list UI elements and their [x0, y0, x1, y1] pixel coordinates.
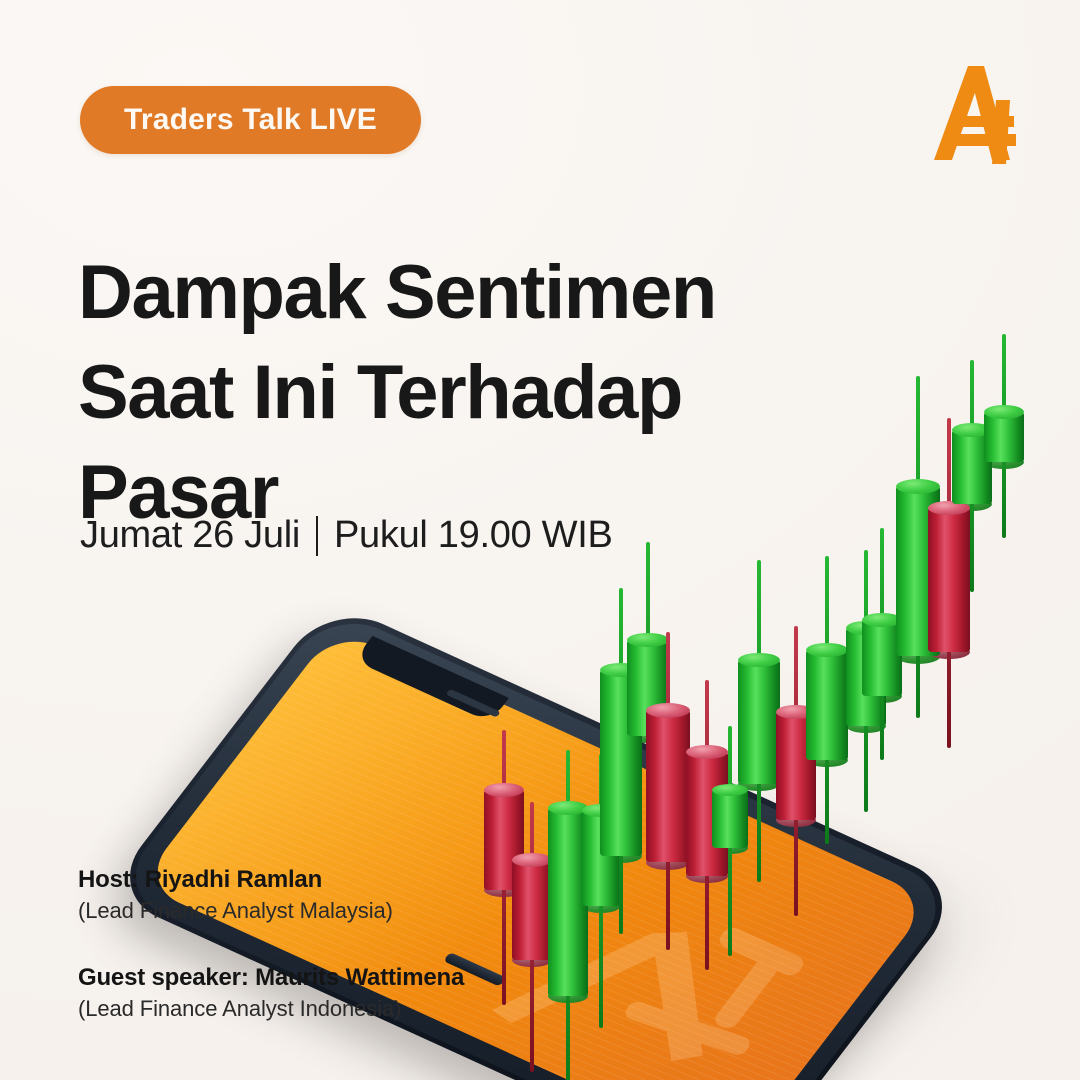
candle-wick: [880, 528, 884, 760]
candle-top-cap: [712, 784, 748, 796]
candle-body: [952, 430, 992, 504]
brand-logo: [922, 60, 1032, 168]
candle-body: [484, 790, 524, 890]
candle-bottom-cap: [484, 883, 524, 897]
candle-top-cap: [686, 745, 728, 759]
candle-wick: [666, 632, 670, 950]
candlestick-down-16: [928, 418, 970, 748]
candle-body: [984, 412, 1024, 462]
candlestick-down-8: [686, 680, 728, 970]
candlestick-up-17: [952, 360, 992, 592]
candle-bottom-cap: [600, 849, 642, 863]
schedule-time: Pukul 19.00 WIB: [334, 514, 613, 557]
page-title: Dampak Sentimen Saat Ini Terhadap Pasar: [78, 243, 778, 543]
candle-top-cap: [582, 804, 620, 817]
candle-top-cap: [984, 405, 1024, 419]
candle-wick: [728, 726, 732, 956]
candle-body: [776, 712, 816, 820]
candle-body: [928, 508, 970, 652]
candle-wick: [599, 754, 603, 1028]
candle-bottom-cap: [862, 689, 902, 703]
candle-body: [712, 790, 748, 848]
candle-body: [646, 710, 690, 862]
screen-arrow-graphic: [480, 846, 842, 1080]
candle-body: [846, 628, 886, 726]
candle-bottom-cap: [846, 719, 886, 733]
candlestick-down-11: [776, 626, 816, 916]
candle-wick: [502, 730, 506, 1005]
candle-body: [600, 670, 642, 856]
candle-body: [627, 640, 669, 736]
candle-top-cap: [806, 643, 848, 657]
candlestick-up-6: [627, 542, 669, 818]
candlestick-up-5: [600, 588, 642, 934]
candle-bottom-cap: [952, 497, 992, 511]
candle-bottom-cap: [512, 953, 552, 967]
candlestick-down-7: [646, 632, 690, 950]
host-title: (Lead Finance Analyst Malaysia): [78, 898, 464, 924]
candlestick-up-14: [862, 528, 902, 760]
candle-bottom-cap: [686, 869, 728, 883]
guest-speaker-name: Guest speaker: Maurits Wattimena: [78, 964, 464, 992]
candle-top-cap: [512, 853, 552, 867]
phone-speaker: [445, 689, 500, 718]
candle-wick: [1002, 334, 1006, 538]
candlestick-down-2: [512, 802, 552, 1072]
headline-line-1: Dampak Sentimen: [78, 243, 778, 343]
candlestick-up-18: [984, 334, 1024, 538]
candle-wick: [970, 360, 974, 592]
candlestick-up-4: [582, 754, 620, 1028]
schedule-line: Jumat 26 Juli Pukul 19.00 WIB: [80, 514, 613, 557]
candlestick-up-13: [846, 550, 886, 812]
candle-wick: [947, 418, 951, 748]
candle-top-cap: [600, 663, 642, 677]
candle-body: [896, 486, 940, 656]
candle-wick: [757, 560, 761, 882]
candle-top-cap: [928, 501, 970, 515]
candle-bottom-cap: [548, 989, 588, 1003]
schedule-date: Jumat 26 Juli: [80, 514, 300, 557]
candle-bottom-cap: [712, 842, 748, 854]
candle-bottom-cap: [896, 649, 940, 664]
candlestick-up-15: [896, 376, 940, 718]
candle-wick: [566, 750, 570, 1080]
candle-body: [738, 660, 780, 784]
candle-body: [582, 810, 620, 906]
candle-body: [548, 808, 588, 996]
candle-body: [806, 650, 848, 760]
promo-poster: Traders Talk LIVE Dampak Sentimen Saat I…: [0, 0, 1080, 1080]
candle-top-cap: [484, 783, 524, 797]
candle-bottom-cap: [646, 855, 690, 870]
schedule-separator: [316, 516, 318, 556]
candle-bottom-cap: [582, 900, 620, 913]
candlestick-up-10: [738, 560, 780, 882]
candle-wick: [864, 550, 868, 812]
candle-top-cap: [846, 621, 886, 635]
candle-wick: [530, 802, 534, 1072]
candlestick-up-9: [712, 726, 748, 956]
guest-speaker-title: (Lead Finance Analyst Indonesia): [78, 996, 464, 1022]
phone-notch: [354, 636, 509, 723]
candle-body: [512, 860, 552, 960]
candle-wick: [646, 542, 650, 818]
host-name: Host: Riyadhi Ramlan: [78, 866, 464, 894]
credits-block: Host: Riyadhi Ramlan (Lead Finance Analy…: [78, 866, 464, 1022]
live-badge-label: Traders Talk LIVE: [124, 103, 377, 137]
phone-drop-shadow: [389, 721, 1080, 1080]
candle-wick: [705, 680, 709, 970]
candle-bottom-cap: [806, 753, 848, 767]
candle-body: [862, 620, 902, 696]
candle-top-cap: [548, 801, 588, 815]
candlestick-up-12: [806, 556, 848, 844]
candle-top-cap: [776, 705, 816, 719]
candle-top-cap: [738, 653, 780, 667]
live-badge: Traders Talk LIVE: [80, 86, 421, 154]
candle-body: [686, 752, 728, 876]
candle-bottom-cap: [627, 729, 669, 743]
candle-top-cap: [646, 703, 690, 718]
candle-bottom-cap: [928, 645, 970, 659]
candle-top-cap: [862, 613, 902, 627]
candlestick-down-1: [484, 730, 524, 1005]
candle-wick: [619, 588, 623, 934]
candle-top-cap: [896, 479, 940, 494]
candle-bottom-cap: [984, 455, 1024, 469]
candlestick-up-3: [548, 750, 588, 1080]
candle-bottom-cap: [738, 777, 780, 791]
candle-top-cap: [952, 423, 992, 437]
candle-bottom-cap: [776, 813, 816, 827]
candle-wick: [916, 376, 920, 718]
candle-wick: [825, 556, 829, 844]
candle-top-cap: [627, 633, 669, 647]
headline-line-2: Saat Ini Terhadap: [78, 343, 778, 443]
candle-wick: [794, 626, 798, 916]
